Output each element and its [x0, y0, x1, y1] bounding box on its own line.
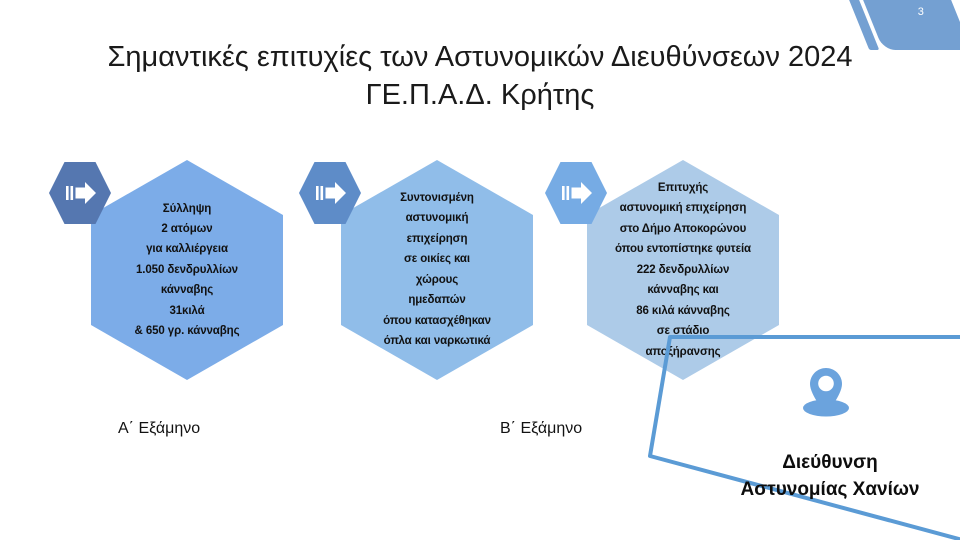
hexagon-text-2: Συντονισμένηαστυνομικήεπιχείρησησε οικίε… — [322, 188, 552, 352]
hexagon-text-1: Σύλληψη2 ατόμωνγια καλλιέργεια1.050 δενδ… — [72, 199, 302, 342]
hexagon-text-line: 86 κιλά κάνναβης — [568, 301, 798, 321]
hexagon-text-line: & 650 γρ. κάνναβης — [72, 321, 302, 341]
hexagon-text-line: στο Δήμο Αποκορώνου — [568, 219, 798, 239]
map-pin-icon — [797, 366, 855, 422]
location-callout-outline — [640, 330, 960, 540]
callout-line-2: Αστυνομίας Χανίων — [700, 477, 960, 504]
hexagon-text-line: όπου εντοπίστηκε φυτεία — [568, 239, 798, 259]
hexagon-text-line: ημεδαπών — [322, 290, 552, 310]
hexagon-text-line: για καλλιέργεια — [72, 239, 302, 259]
slide-canvas: 3 Σημαντικές επιτυχίες των Αστυνομικών Δ… — [0, 0, 960, 540]
caption-first-semester: Α΄ Εξάμηνο — [118, 420, 200, 438]
hexagon-text-line: 222 δενδρυλλίων — [568, 260, 798, 280]
location-callout-text: Διεύθυνση Αστυνομίας Χανίων — [700, 450, 960, 504]
hexagon-text-line: 2 ατόμων — [72, 219, 302, 239]
callout-line-1: Διεύθυνση — [700, 450, 960, 477]
caption-second-semester: Β΄ Εξάμηνο — [500, 420, 582, 438]
hexagon-text-line: όπου κατασχέθηκαν — [322, 311, 552, 331]
hexagon-text-line: 31κιλά — [72, 301, 302, 321]
hexagon-text-line: σε οικίες και — [322, 249, 552, 269]
hexagon-text-line: αστυνομική — [322, 208, 552, 228]
hexagon-text-line: 1.050 δενδρυλλίων — [72, 260, 302, 280]
hexagon-text-line: χώρους — [322, 270, 552, 290]
hexagon-text-line: κάνναβης — [72, 280, 302, 300]
hexagon-text-line: κάνναβης και — [568, 280, 798, 300]
hexagon-text-line: επιχείρηση — [322, 229, 552, 249]
hexagon-text-line: όπλα και ναρκωτικά — [322, 331, 552, 351]
